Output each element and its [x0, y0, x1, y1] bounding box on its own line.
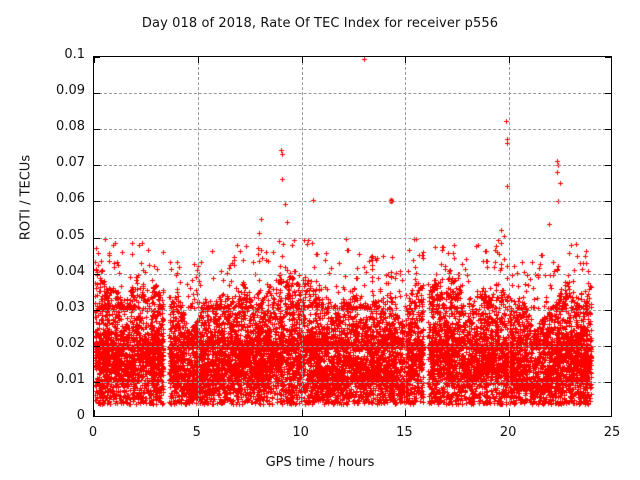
- gridline-horizontal: [94, 165, 611, 166]
- gridline-horizontal: [94, 201, 611, 202]
- gridline-vertical: [509, 57, 510, 416]
- y-tick-mark-right: [605, 201, 611, 202]
- y-tick-mark: [94, 238, 100, 239]
- x-tick-mark-top: [405, 57, 406, 63]
- y-tick-mark-right: [605, 57, 611, 58]
- y-tick-label: 0.02: [29, 336, 85, 351]
- y-tick-mark-right: [605, 165, 611, 166]
- y-tick-label: 0.06: [29, 191, 85, 206]
- x-tick-mark: [405, 410, 406, 416]
- gridline-vertical: [198, 57, 199, 416]
- y-tick-mark: [94, 310, 100, 311]
- x-tick-label: 15: [374, 425, 434, 440]
- x-tick-mark-top: [302, 57, 303, 63]
- x-tick-mark: [509, 410, 510, 416]
- gridline-horizontal: [94, 274, 611, 275]
- gridline-vertical: [302, 57, 303, 416]
- gridline-horizontal: [94, 382, 611, 383]
- x-tick-label: 0: [63, 425, 123, 440]
- y-tick-label: 0.1: [29, 47, 85, 62]
- y-tick-mark-right: [605, 310, 611, 311]
- x-tick-mark: [198, 410, 199, 416]
- gridline-horizontal: [94, 346, 611, 347]
- y-tick-mark-right: [605, 93, 611, 94]
- y-tick-label: 0.09: [29, 83, 85, 98]
- y-tick-mark-right: [605, 274, 611, 275]
- x-tick-mark-top: [509, 57, 510, 63]
- y-tick-mark: [94, 346, 100, 347]
- y-tick-label: 0.04: [29, 264, 85, 279]
- y-tick-mark-right: [605, 129, 611, 130]
- chart-page: Day 018 of 2018, Rate Of TEC Index for r…: [0, 0, 640, 480]
- x-tick-label: 5: [167, 425, 227, 440]
- x-tick-mark-top: [198, 57, 199, 63]
- y-tick-label: 0.07: [29, 155, 85, 170]
- y-tick-label: 0: [29, 408, 85, 423]
- y-tick-mark: [94, 382, 100, 383]
- x-tick-mark: [302, 410, 303, 416]
- x-axis-label: GPS time / hours: [0, 455, 640, 470]
- y-tick-label: 0.05: [29, 228, 85, 243]
- x-tick-label: 10: [271, 425, 331, 440]
- gridline-vertical: [405, 57, 406, 416]
- y-tick-mark-right: [605, 346, 611, 347]
- y-tick-mark-right: [605, 382, 611, 383]
- y-tick-mark-right: [605, 238, 611, 239]
- x-tick-label: 20: [478, 425, 538, 440]
- x-tick-label: 25: [582, 425, 640, 440]
- y-tick-label: 0.08: [29, 119, 85, 134]
- chart-title: Day 018 of 2018, Rate Of TEC Index for r…: [0, 16, 640, 31]
- y-tick-mark: [94, 274, 100, 275]
- y-tick-mark: [94, 129, 100, 130]
- y-tick-label: 0.03: [29, 300, 85, 315]
- x-tick-mark: [94, 410, 95, 416]
- gridline-horizontal: [94, 310, 611, 311]
- y-tick-mark: [94, 201, 100, 202]
- plot-area: [93, 56, 612, 417]
- gridline-horizontal: [94, 129, 611, 130]
- y-tick-mark: [94, 93, 100, 94]
- y-tick-mark: [94, 165, 100, 166]
- gridline-horizontal: [94, 93, 611, 94]
- x-tick-mark-top: [94, 57, 95, 63]
- gridline-horizontal: [94, 238, 611, 239]
- y-tick-label: 0.01: [29, 372, 85, 387]
